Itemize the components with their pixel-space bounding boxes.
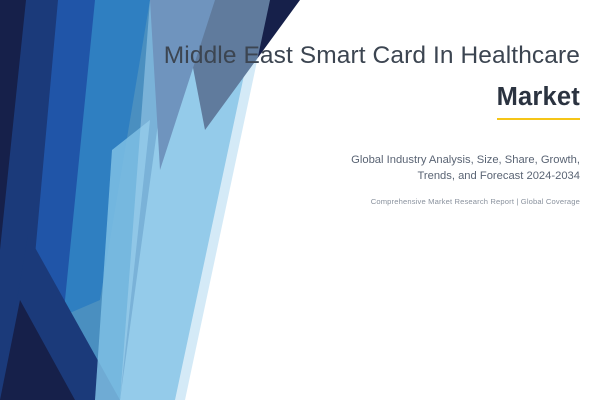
market-word-wrapper: Market (120, 83, 580, 120)
cover-text-block: Middle East Smart Card In Healthcare Mar… (120, 0, 590, 400)
report-subtitle: Global Industry Analysis, Size, Share, G… (120, 152, 580, 184)
market-word: Market (497, 83, 580, 120)
subtitle-line-2: Trends, and Forecast 2024-2034 (120, 168, 580, 184)
report-title: Middle East Smart Card In Healthcare (120, 42, 580, 70)
report-cover-page: Middle East Smart Card In Healthcare Mar… (0, 0, 600, 400)
subtitle-line-1: Global Industry Analysis, Size, Share, G… (120, 152, 580, 168)
report-tagline: Comprehensive Market Research Report | G… (120, 197, 580, 206)
